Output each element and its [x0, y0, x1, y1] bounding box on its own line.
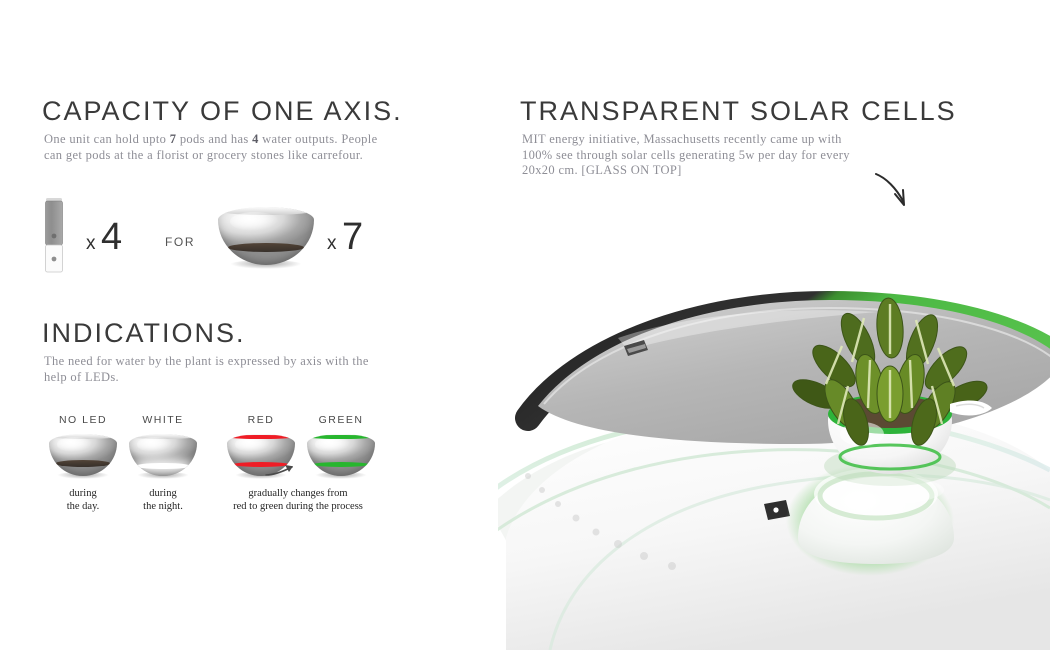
capacity-description: One unit can hold upto 7 pods and has 4 … [44, 132, 396, 163]
pod-bowl [307, 434, 375, 476]
pod-led-top-green [308, 435, 375, 440]
pod-soil [228, 243, 305, 252]
slide-canvas: CAPACITY OF ONE AXIS. One unit can hold … [0, 0, 1050, 650]
pod-illustration-none [49, 434, 117, 476]
led-state-grid: NO LEDWHITEREDGREENduringthe day.duringt… [46, 414, 386, 524]
solar-glass-top [538, 300, 1050, 444]
pod-multiplier-symbol: x [327, 233, 338, 254]
led-caption-none: duringthe day. [46, 488, 120, 513]
axis-unit-icon [42, 196, 68, 279]
pod-led-bottom-green [313, 462, 369, 467]
pod-highlight [57, 437, 92, 451]
pod-count-multiplier: x 7 [327, 216, 363, 259]
pod-highlight [315, 437, 350, 451]
axis-count-multiplier: x 4 [86, 216, 122, 259]
pod-highlight [137, 437, 172, 451]
pod-soil [56, 460, 110, 467]
pod-led-white [136, 463, 190, 470]
led-state-label: NO LED [46, 414, 120, 428]
indications-title: INDICATIONS. [42, 318, 246, 349]
indications-description: The need for water by the plant is expre… [44, 354, 389, 385]
led-state-green: GREEN [304, 414, 378, 476]
solar-title: TRANSPARENT SOLAR CELLS [520, 96, 957, 127]
pod-multiplier-value: 7 [342, 216, 363, 258]
pod-led-top-red [228, 435, 295, 440]
led-state-label: WHITE [126, 414, 200, 428]
pod-illustration-large [218, 207, 314, 265]
transition-arrow-icon [264, 462, 298, 485]
axis-multiplier-value: 4 [101, 216, 122, 258]
led-caption-white: duringthe night. [126, 488, 200, 513]
pod-highlight [230, 212, 280, 232]
pod-highlight [235, 437, 270, 451]
product-render [498, 208, 1050, 650]
pod-illustration-green [307, 434, 375, 476]
solar-description: MIT energy initiative, Massachusetts rec… [522, 132, 867, 179]
capacity-title: CAPACITY OF ONE AXIS. [42, 96, 403, 127]
led-state-white: WHITE [126, 414, 200, 476]
led-state-label: GREEN [304, 414, 378, 428]
pod-illustration-white [129, 434, 197, 476]
for-connector-label: FOR [165, 235, 195, 249]
pod-bowl [129, 434, 197, 476]
led-caption-transition: gradually changes fromred to green durin… [212, 488, 384, 513]
pod-bowl [49, 434, 117, 476]
led-state-none: NO LED [46, 414, 120, 476]
led-state-label: RED [224, 414, 298, 428]
pod-bowl [218, 207, 314, 265]
axis-multiplier-symbol: x [86, 233, 97, 254]
